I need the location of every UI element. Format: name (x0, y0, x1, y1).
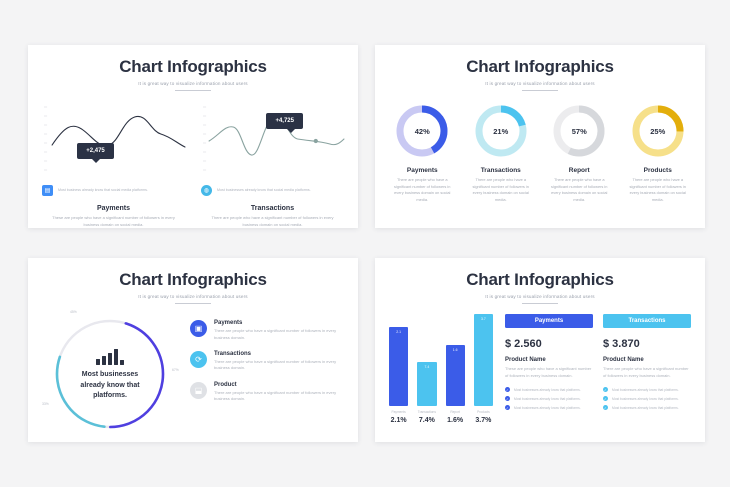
slide-header: Chart Infographics It is great way to vi… (375, 45, 705, 91)
page-subtitle: It is great way to visualize information… (28, 81, 358, 86)
mini-bar-chart-icon (96, 347, 124, 365)
check-icon: ✓ (603, 405, 608, 410)
check-item: ✓ Most businesses already know that plat… (505, 396, 593, 401)
panel-label-transactions: Transactions (197, 205, 348, 212)
slide-header: Chart Infographics It is great way to vi… (375, 258, 705, 304)
check-icon: ✓ (505, 387, 510, 392)
page-subtitle: It is great way to visualize information… (375, 81, 705, 86)
bar-category: Products (474, 410, 493, 414)
product-name: Product Name (505, 357, 593, 363)
donut-label: Transactions (462, 167, 541, 174)
chart-note-transactions: ◍ Most businesses already know that soci… (197, 185, 348, 196)
line-chart-row: +2,475 ▤ Most business already know that… (28, 91, 358, 228)
page-title: Chart Infographics (28, 270, 358, 290)
line-chart-svg (38, 101, 189, 177)
slide-card-donuts: Chart Infographics It is great way to vi… (375, 45, 705, 228)
check-item: ✓ Most businesses already know that plat… (505, 387, 593, 392)
check-text: Most businesses already know that platfo… (612, 388, 679, 393)
list-item-desc: There are people who have a significant … (214, 390, 346, 403)
panel-desc-payments: These are people who have a significant … (38, 215, 189, 228)
bar-category: Transactions (417, 410, 436, 414)
chart-note-payments: ▤ Most business already know that social… (38, 185, 189, 196)
line-chart-plot-payments: +2,475 (38, 101, 189, 177)
bar-column: 7.4 (417, 314, 436, 406)
donut-item-products: 25% Products There are people who have a… (619, 103, 698, 203)
page-title: Chart Infographics (28, 57, 358, 77)
price-value: $ 2.560 (505, 338, 593, 350)
check-icon: ✓ (603, 396, 608, 401)
check-icon: ✓ (505, 396, 510, 401)
bar: 3.7 (474, 314, 493, 406)
donut-value: 25% (630, 103, 686, 159)
product-name: Product Name (603, 357, 691, 363)
check-item: ✓ Most businesses already know that plat… (603, 396, 691, 401)
ring-chart-area: Most businesses already know that platfo… (40, 310, 190, 435)
page-subtitle: It is great way to visualize information… (375, 294, 705, 299)
bar-column: 3.7 (474, 314, 493, 406)
slide-header: Chart Infographics It is great way to vi… (28, 45, 358, 91)
price-card-pill[interactable]: Payments (505, 314, 593, 328)
panel-label-payments: Payments (38, 205, 189, 212)
line-chart-panel-transactions: +4,725 ◍ Most businesses already know th… (197, 101, 348, 228)
price-card-transactions: Transactions $ 3.870 Product Name There … (603, 314, 691, 424)
bar-column: 2.1 (389, 314, 408, 406)
donut-label: Report (540, 167, 619, 174)
chart-tooltip-transactions: +4,725 (266, 113, 303, 129)
price-card-group: Payments $ 2.560 Product Name These are … (505, 314, 691, 424)
bar-percent: 7.4% (417, 417, 436, 424)
bar-column: 1.6 (446, 314, 465, 406)
feature-check-list: ✓ Most businesses already know that plat… (603, 387, 691, 410)
chart-tooltip-payments: +2,475 (77, 143, 114, 159)
wallet-icon: ▣ (190, 320, 207, 337)
chat-icon: ◍ (201, 185, 212, 196)
bar-category: Report (446, 410, 465, 414)
donut-desc: There are people who have a significant … (540, 177, 619, 203)
donut-chart-products: 25% (630, 103, 686, 159)
ring-tick-label: 33% (42, 402, 49, 406)
list-item-desc: There are people who have a significant … (214, 359, 346, 372)
bar-percent: 3.7% (474, 417, 493, 424)
donut-label: Products (619, 167, 698, 174)
donut-item-transactions: 21% Transactions There are people who ha… (462, 103, 541, 203)
price-value: $ 3.870 (603, 338, 691, 350)
donut-chart-payments: 42% (394, 103, 450, 159)
slide-card-ring-list: Chart Infographics It is great way to vi… (28, 258, 358, 442)
check-item: ✓ Most businesses already know that plat… (603, 387, 691, 392)
bars-cards-body: 2.1 7.4 1.6 3. (375, 304, 705, 424)
bar-value-label: 1.6 (453, 348, 458, 352)
line-data-point (314, 139, 318, 143)
check-icon: ✓ (505, 405, 510, 410)
slide-card-bars-cards: Chart Infographics It is great way to vi… (375, 258, 705, 442)
donut-value: 42% (394, 103, 450, 159)
bar-percent: 2.1% (389, 417, 408, 424)
donut-value: 57% (551, 103, 607, 159)
feature-list: ▣ Payments There are people who have a s… (190, 310, 346, 435)
donut-desc: There are people who have a significant … (462, 177, 541, 203)
panel-desc-transactions: There are people who have a significant … (197, 215, 348, 228)
card-icon: ▤ (42, 185, 53, 196)
bar-value-label: 3.7 (481, 317, 486, 321)
product-desc: There are people who have a significant … (603, 366, 691, 379)
slide-header: Chart Infographics It is great way to vi… (28, 258, 358, 304)
ring-center-text: Most businesses already know that platfo… (71, 370, 149, 400)
bar: 7.4 (417, 362, 436, 406)
ring-list-body: Most businesses already know that platfo… (28, 304, 358, 435)
donut-chart-transactions: 21% (473, 103, 529, 159)
product-desc: These are people who have a significant … (505, 366, 593, 379)
donut-row: 42% Payments There are people who have a… (375, 91, 705, 203)
line-series-payments (52, 117, 185, 148)
page-title: Chart Infographics (375, 57, 705, 77)
bar-group: 2.1 7.4 1.6 3. (389, 314, 493, 406)
bar: 1.6 (446, 345, 465, 406)
bar-value-label: 7.4 (425, 365, 430, 369)
donut-desc: There are people who have a significant … (383, 177, 462, 203)
slide-card-line-charts: Chart Infographics It is great way to vi… (28, 45, 358, 228)
bar-category-labels: Payments Transactions Report Products (389, 410, 493, 414)
list-item-title: Transactions (214, 351, 346, 357)
list-item-transactions[interactable]: ⟳ Transactions There are people who have… (190, 351, 346, 372)
line-chart-plot-transactions: +4,725 (197, 101, 348, 177)
feature-check-list: ✓ Most businesses already know that plat… (505, 387, 593, 410)
y-axis-ticks (44, 107, 47, 170)
check-text: Most businesses already know that platfo… (514, 406, 581, 411)
list-item-title: Product (214, 382, 346, 388)
bar: 2.1 (389, 327, 408, 406)
chart-note-text: Most businesses already know that social… (217, 188, 311, 193)
ring-tick-label: 67% (172, 368, 179, 372)
list-item-desc: There are people who have a significant … (214, 328, 346, 341)
donut-label: Payments (383, 167, 462, 174)
refresh-icon: ⟳ (190, 351, 207, 368)
box-icon: ⬓ (190, 382, 207, 399)
check-text: Most businesses already know that platfo… (514, 397, 581, 402)
page-title: Chart Infographics (375, 270, 705, 290)
chart-note-text: Most business already know that social m… (58, 188, 148, 193)
donut-value: 21% (473, 103, 529, 159)
check-icon: ✓ (603, 387, 608, 392)
y-axis-ticks (203, 107, 206, 170)
line-chart-panel-payments: +2,475 ▤ Most business already know that… (38, 101, 189, 228)
bar-chart: 2.1 7.4 1.6 3. (389, 314, 493, 424)
check-text: Most businesses already know that platfo… (612, 406, 679, 411)
list-item-title: Payments (214, 320, 346, 326)
page-subtitle: It is great way to visualize information… (28, 294, 358, 299)
list-item-product[interactable]: ⬓ Product There are people who have a si… (190, 382, 346, 403)
bar-percent: 1.6% (446, 417, 465, 424)
price-card-pill[interactable]: Transactions (603, 314, 691, 328)
bar-value-label: 2.1 (396, 330, 401, 334)
check-item: ✓ Most businesses already know that plat… (603, 405, 691, 410)
donut-item-payments: 42% Payments There are people who have a… (383, 103, 462, 203)
ring-center-content: Most businesses already know that platfo… (52, 316, 168, 432)
check-text: Most businesses already know that platfo… (514, 388, 581, 393)
bar-category: Payments (389, 410, 408, 414)
check-text: Most businesses already know that platfo… (612, 397, 679, 402)
bar-percent-labels: 2.1% 7.4% 1.6% 3.7% (389, 417, 493, 424)
donut-item-report: 57% Report There are people who have a s… (540, 103, 619, 203)
donut-desc: There are people who have a significant … (619, 177, 698, 203)
check-item: ✓ Most businesses already know that plat… (505, 405, 593, 410)
list-item-payments[interactable]: ▣ Payments There are people who have a s… (190, 320, 346, 341)
price-card-payments: Payments $ 2.560 Product Name These are … (505, 314, 593, 424)
donut-chart-report: 57% (551, 103, 607, 159)
ring-tick-label: 45% (70, 310, 77, 314)
infographic-board: Chart Infographics It is great way to vi… (0, 0, 730, 487)
